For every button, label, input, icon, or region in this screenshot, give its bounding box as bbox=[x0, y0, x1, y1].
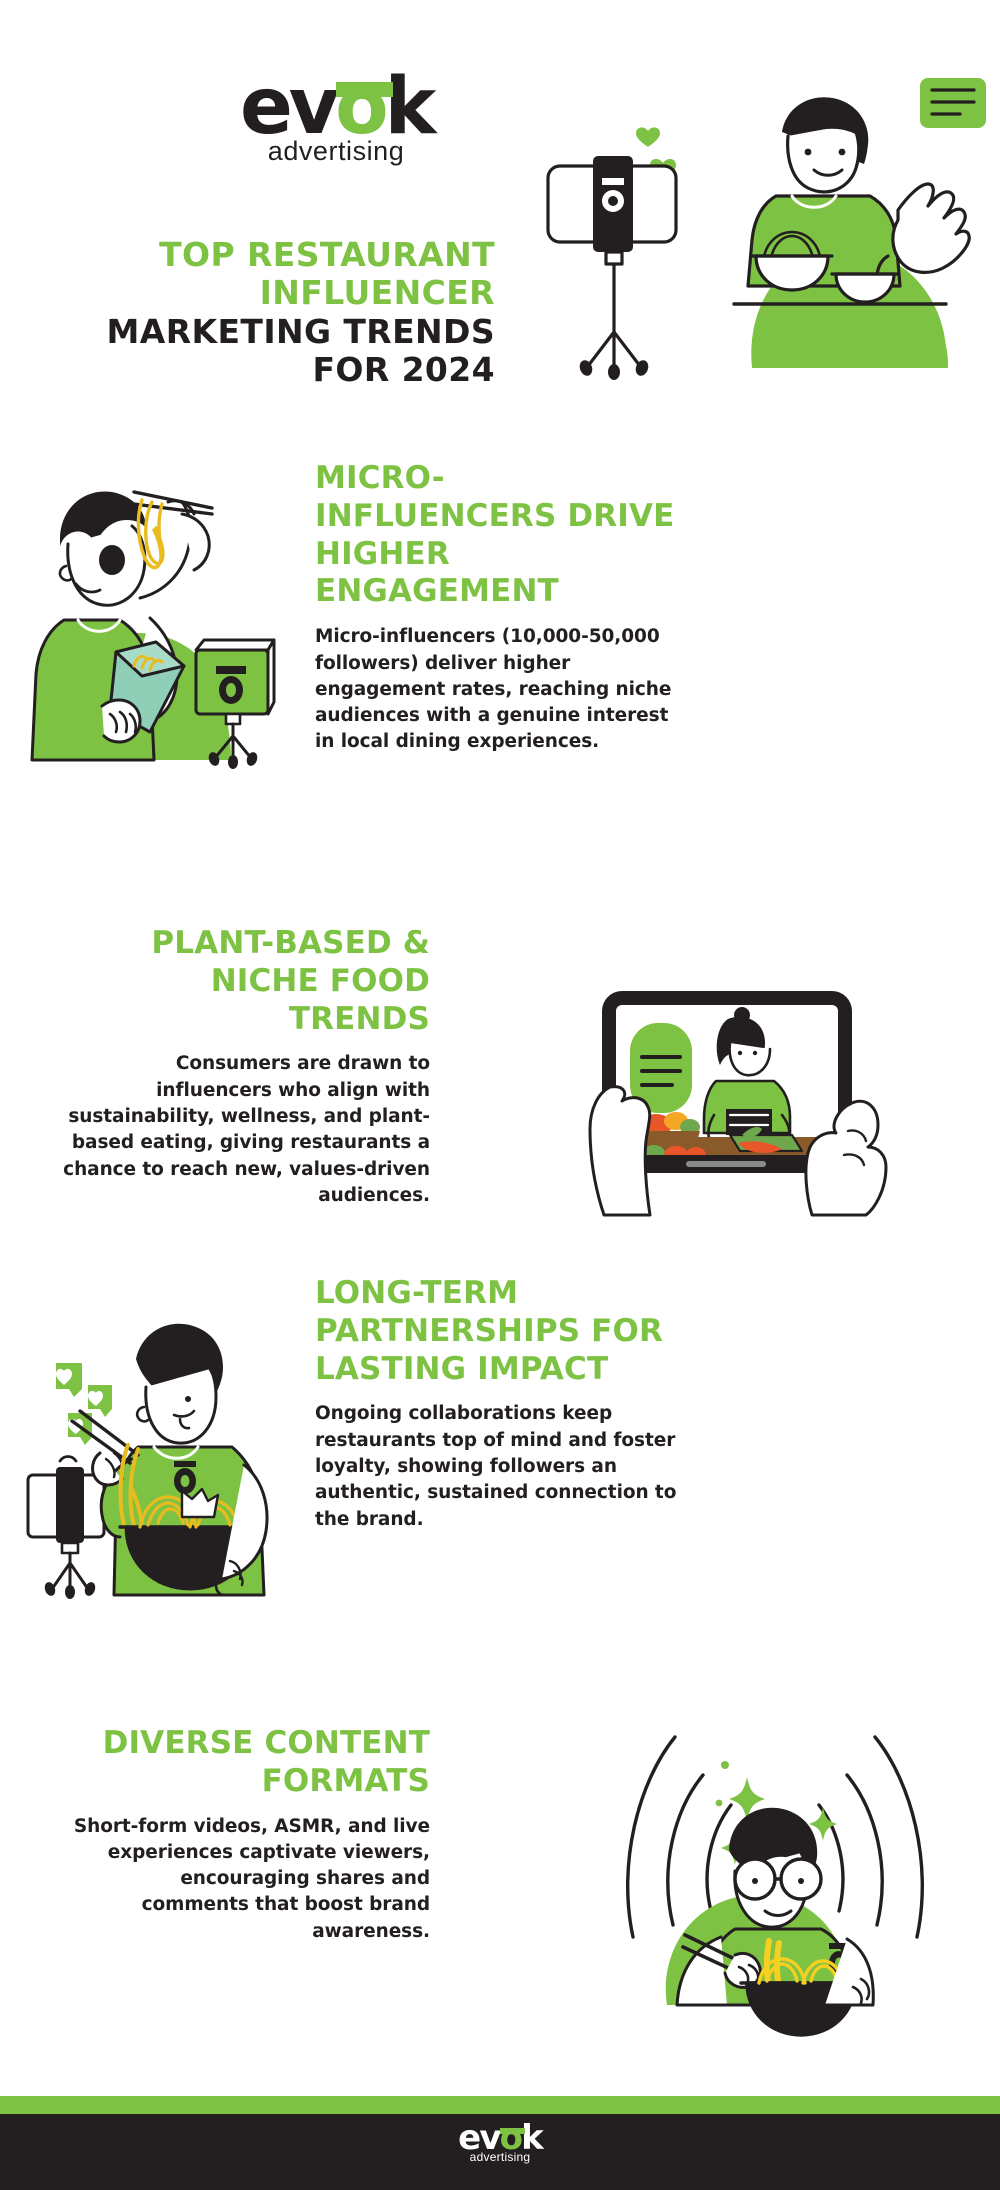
section-4-heading: DIVERSE CONTENT FORMATS bbox=[70, 1725, 430, 1801]
logo-macron-bar bbox=[336, 82, 393, 97]
section-2-illustration bbox=[590, 985, 890, 1215]
logo-tagline: advertising bbox=[240, 138, 432, 165]
section-2-body: Consumers are drawn to influencers who a… bbox=[60, 1051, 430, 1209]
footer-green-stripe bbox=[0, 2096, 1000, 2114]
asmr-noodles-illustration bbox=[625, 1715, 925, 2005]
section-3-heading: LONG-TERM PARTNERSHIPS FOR LASTING IMPAC… bbox=[315, 1275, 680, 1388]
hero-illustration-svg bbox=[520, 70, 990, 370]
section-4-text: DIVERSE CONTENT FORMATS Short-form video… bbox=[70, 1725, 430, 1945]
hands-holding-tablet-illustration bbox=[590, 985, 890, 1215]
title-line-1: TOP RESTAURANT bbox=[0, 236, 495, 274]
section-long-term-partnerships: LONG-TERM PARTNERSHIPS FOR LASTING IMPAC… bbox=[0, 1295, 1000, 1595]
section-3-text: LONG-TERM PARTNERSHIPS FOR LASTING IMPAC… bbox=[315, 1275, 680, 1533]
section-diverse-content: DIVERSE CONTENT FORMATS Short-form video… bbox=[0, 1715, 1000, 2015]
section-micro-influencers: MICRO-INFLUENCERS DRIVE HIGHER ENGAGEMEN… bbox=[0, 470, 1000, 770]
footer-evok-logo[interactable]: evok advertising bbox=[458, 2123, 542, 2163]
like-heart-icon bbox=[56, 1363, 112, 1445]
section-4-body: Short-form videos, ASMR, and live experi… bbox=[70, 1814, 430, 1945]
section-1-illustration bbox=[30, 470, 300, 760]
footer-logo-wrap: evok advertising bbox=[0, 2123, 1000, 2166]
man-noodle-bowl-filming-illustration bbox=[22, 1315, 302, 1595]
section-4-illustration bbox=[625, 1715, 925, 2005]
section-1-text: MICRO-INFLUENCERS DRIVE HIGHER ENGAGEMEN… bbox=[315, 460, 675, 756]
title-line-2: INFLUENCER bbox=[0, 274, 495, 312]
man-eating-noodles-illustration bbox=[30, 470, 300, 760]
title-line-3: MARKETING TRENDS bbox=[0, 313, 495, 351]
hero-illustration bbox=[520, 70, 990, 370]
header-logo-wrap: evok advertising bbox=[240, 72, 432, 165]
section-plant-based: PLANT-BASED & NICHE FOOD TRENDS Consumer… bbox=[0, 925, 1000, 1215]
evok-logo[interactable]: evok advertising bbox=[240, 72, 432, 165]
footer-logo-tagline: advertising bbox=[458, 2151, 542, 2163]
section-2-heading: PLANT-BASED & NICHE FOOD TRENDS bbox=[60, 925, 430, 1038]
section-2-text: PLANT-BASED & NICHE FOOD TRENDS Consumer… bbox=[60, 925, 430, 1209]
page-title: TOP RESTAURANT INFLUENCER MARKETING TREN… bbox=[0, 236, 520, 389]
section-3-illustration bbox=[22, 1315, 302, 1595]
section-3-body: Ongoing collaborations keep restaurants … bbox=[315, 1401, 680, 1532]
section-1-body: Micro-influencers (10,000-50,000 followe… bbox=[315, 624, 675, 755]
footer-logo-macron-bar bbox=[500, 2128, 525, 2134]
header: evok advertising TOP RESTAURANT INFLUENC… bbox=[0, 0, 1000, 470]
title-line-4: FOR 2024 bbox=[0, 351, 495, 389]
section-1-heading: MICRO-INFLUENCERS DRIVE HIGHER ENGAGEMEN… bbox=[315, 460, 675, 611]
